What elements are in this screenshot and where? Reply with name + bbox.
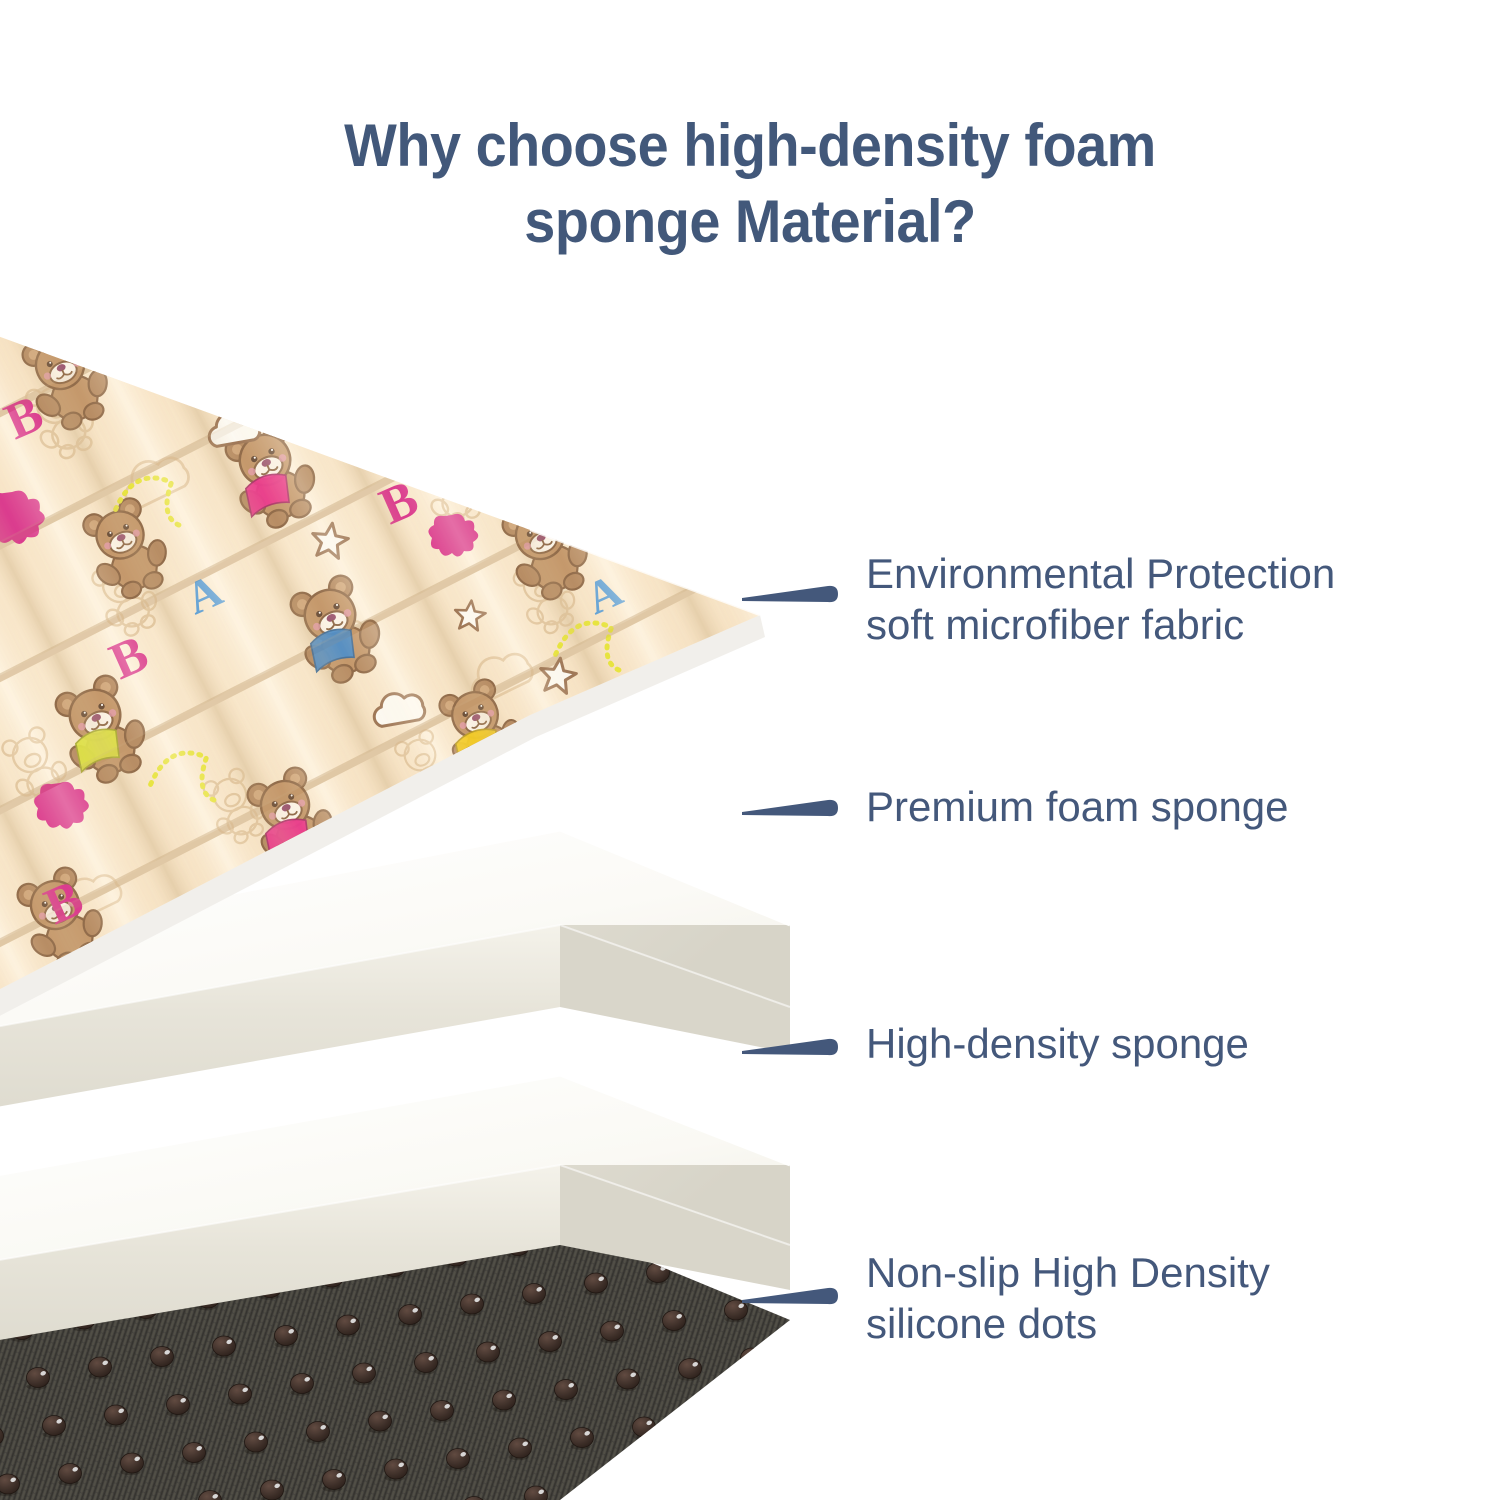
- callout-high-density-sponge: High-density sponge: [866, 1018, 1249, 1069]
- page-title-line-2: sponge Material?: [53, 184, 1448, 260]
- page-title-line-1: Why choose high-density foam: [53, 108, 1448, 184]
- callout-microfiber-fabric: Environmental Protection soft microfiber…: [866, 548, 1335, 650]
- callout-silicone-dots: Non-slip High Density silicone dots: [866, 1247, 1270, 1349]
- callout-premium-foam-sponge: Premium foam sponge: [866, 781, 1289, 832]
- exploded-layer-diagram: B B B B A A A: [0, 285, 900, 1500]
- page-title: Why choose high-density foam sponge Mate…: [0, 108, 1500, 260]
- infographic-canvas: Why choose high-density foam sponge Mate…: [0, 0, 1500, 1500]
